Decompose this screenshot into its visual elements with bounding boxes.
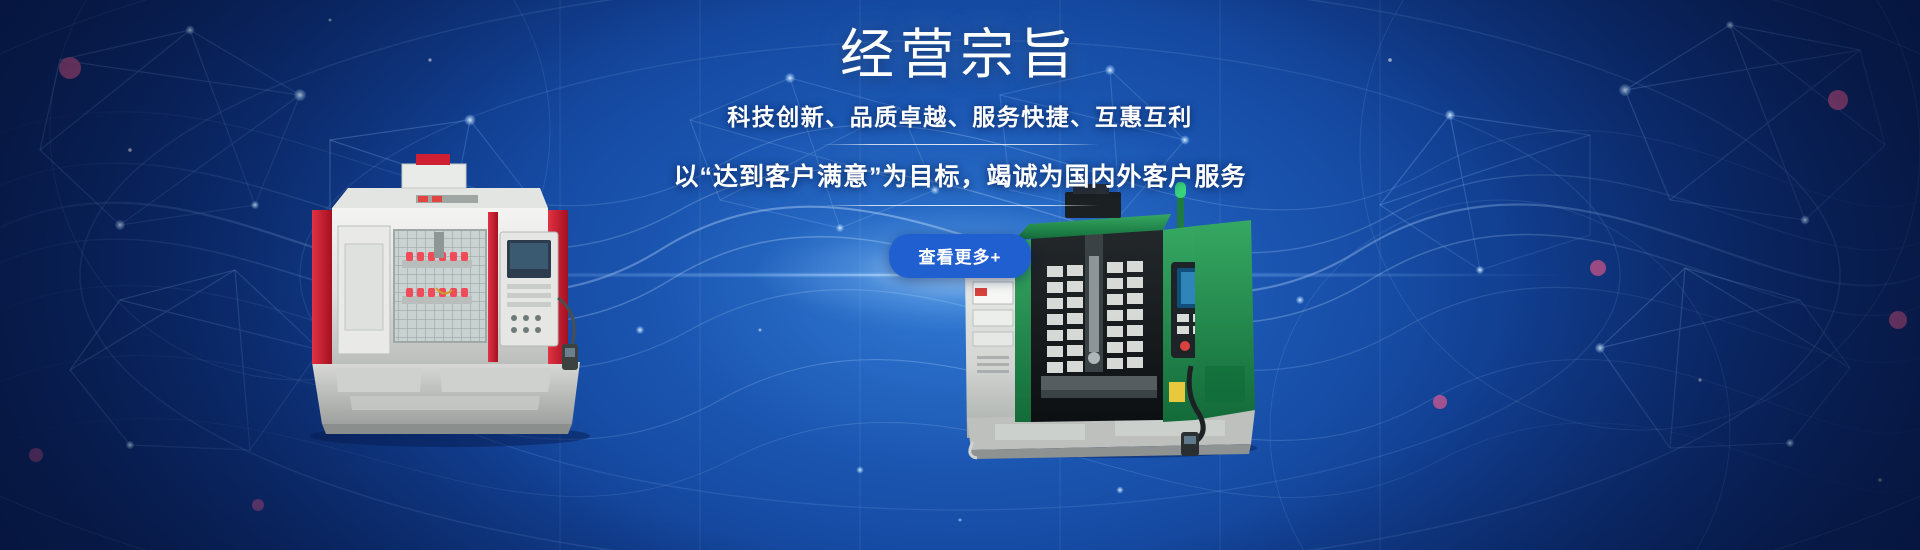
banner-copy: 经营宗旨 科技创新、品质卓越、服务快捷、互惠互利 以“达到客户满意”为目标，竭诚… xyxy=(0,22,1920,278)
banner-subtitle: 科技创新、品质卓越、服务快捷、互惠互利 xyxy=(0,98,1920,132)
hero-banner: 经营宗旨 科技创新、品质卓越、服务快捷、互惠互利 以“达到客户满意”为目标，竭诚… xyxy=(0,0,1920,550)
page-title: 经营宗旨 xyxy=(0,22,1920,90)
divider-top xyxy=(821,144,1099,145)
divider-bottom xyxy=(821,205,1099,206)
view-more-button[interactable]: 查看更多+ xyxy=(889,234,1032,278)
banner-tagline: 以“达到客户满意”为目标，竭诚为国内外客户服务 xyxy=(0,157,1920,193)
